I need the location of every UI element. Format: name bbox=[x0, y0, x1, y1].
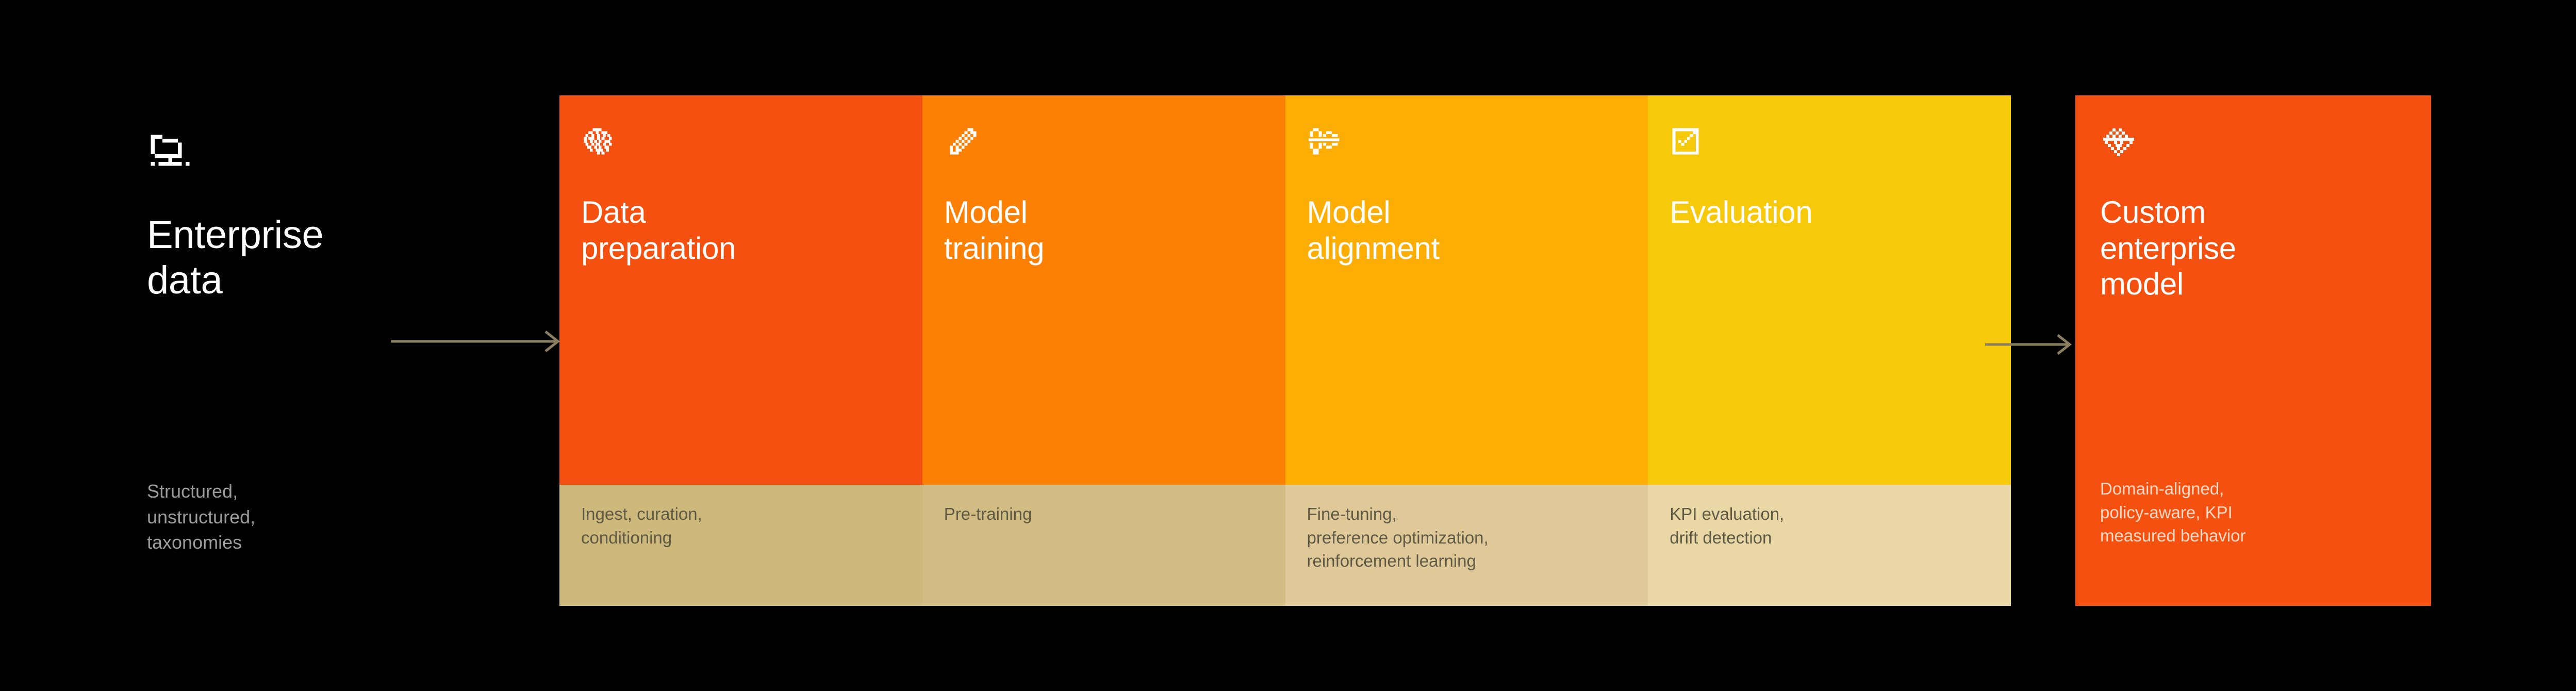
stage-model-training[interactable]: Model training Pre-training bbox=[922, 95, 1285, 606]
stage-title: Data preparation bbox=[581, 194, 901, 266]
stage-body: Model alignment bbox=[1285, 95, 1648, 485]
monitor-data-icon bbox=[147, 129, 193, 175]
brain-icon bbox=[581, 125, 616, 160]
stage-model-alignment[interactable]: Model alignment Fine-tuning, preference … bbox=[1285, 95, 1648, 606]
stage-caption: Fine-tuning, preference optimization, re… bbox=[1285, 485, 1648, 606]
stage-evaluation[interactable]: Evaluation KPI evaluation, drift detecti… bbox=[1648, 95, 2011, 606]
source-title: Enterprise data bbox=[147, 212, 477, 303]
stage-body: Model training bbox=[922, 95, 1285, 485]
gem-icon bbox=[2100, 125, 2137, 162]
stage-data-preparation[interactable]: Data preparation Ingest, curation, condi… bbox=[559, 95, 922, 606]
enterprise-data-source: Enterprise data bbox=[147, 129, 477, 303]
outcome-title: Custom enterprise model bbox=[2100, 194, 2406, 302]
arrow-source-to-pipeline bbox=[391, 326, 566, 357]
stage-caption: Pre-training bbox=[922, 485, 1285, 606]
custom-enterprise-model-card[interactable]: Custom enterprise model Domain-aligned, … bbox=[2075, 95, 2431, 606]
outcome-caption: Domain-aligned, policy-aware, KPI measur… bbox=[2100, 477, 2368, 548]
stage-title: Evaluation bbox=[1670, 194, 1989, 231]
stage-body: Evaluation bbox=[1648, 95, 2011, 485]
arrow-pipeline-to-outcome bbox=[1985, 329, 2078, 360]
stage-caption: Ingest, curation, conditioning bbox=[559, 485, 922, 606]
sliders-icon bbox=[1307, 125, 1342, 160]
stage-caption: KPI evaluation, drift detection bbox=[1648, 485, 2011, 606]
pencil-icon bbox=[944, 125, 979, 160]
stage-body: Data preparation bbox=[559, 95, 922, 485]
source-caption: Structured, unstructured, taxonomies bbox=[147, 479, 374, 555]
diagram-canvas: Enterprise data Structured, unstructured… bbox=[0, 0, 2576, 691]
pipeline-stages: Data preparation Ingest, curation, condi… bbox=[559, 95, 2011, 606]
stage-title: Model training bbox=[944, 194, 1264, 266]
stage-title: Model alignment bbox=[1307, 194, 1627, 266]
chart-box-icon bbox=[1670, 125, 1705, 160]
